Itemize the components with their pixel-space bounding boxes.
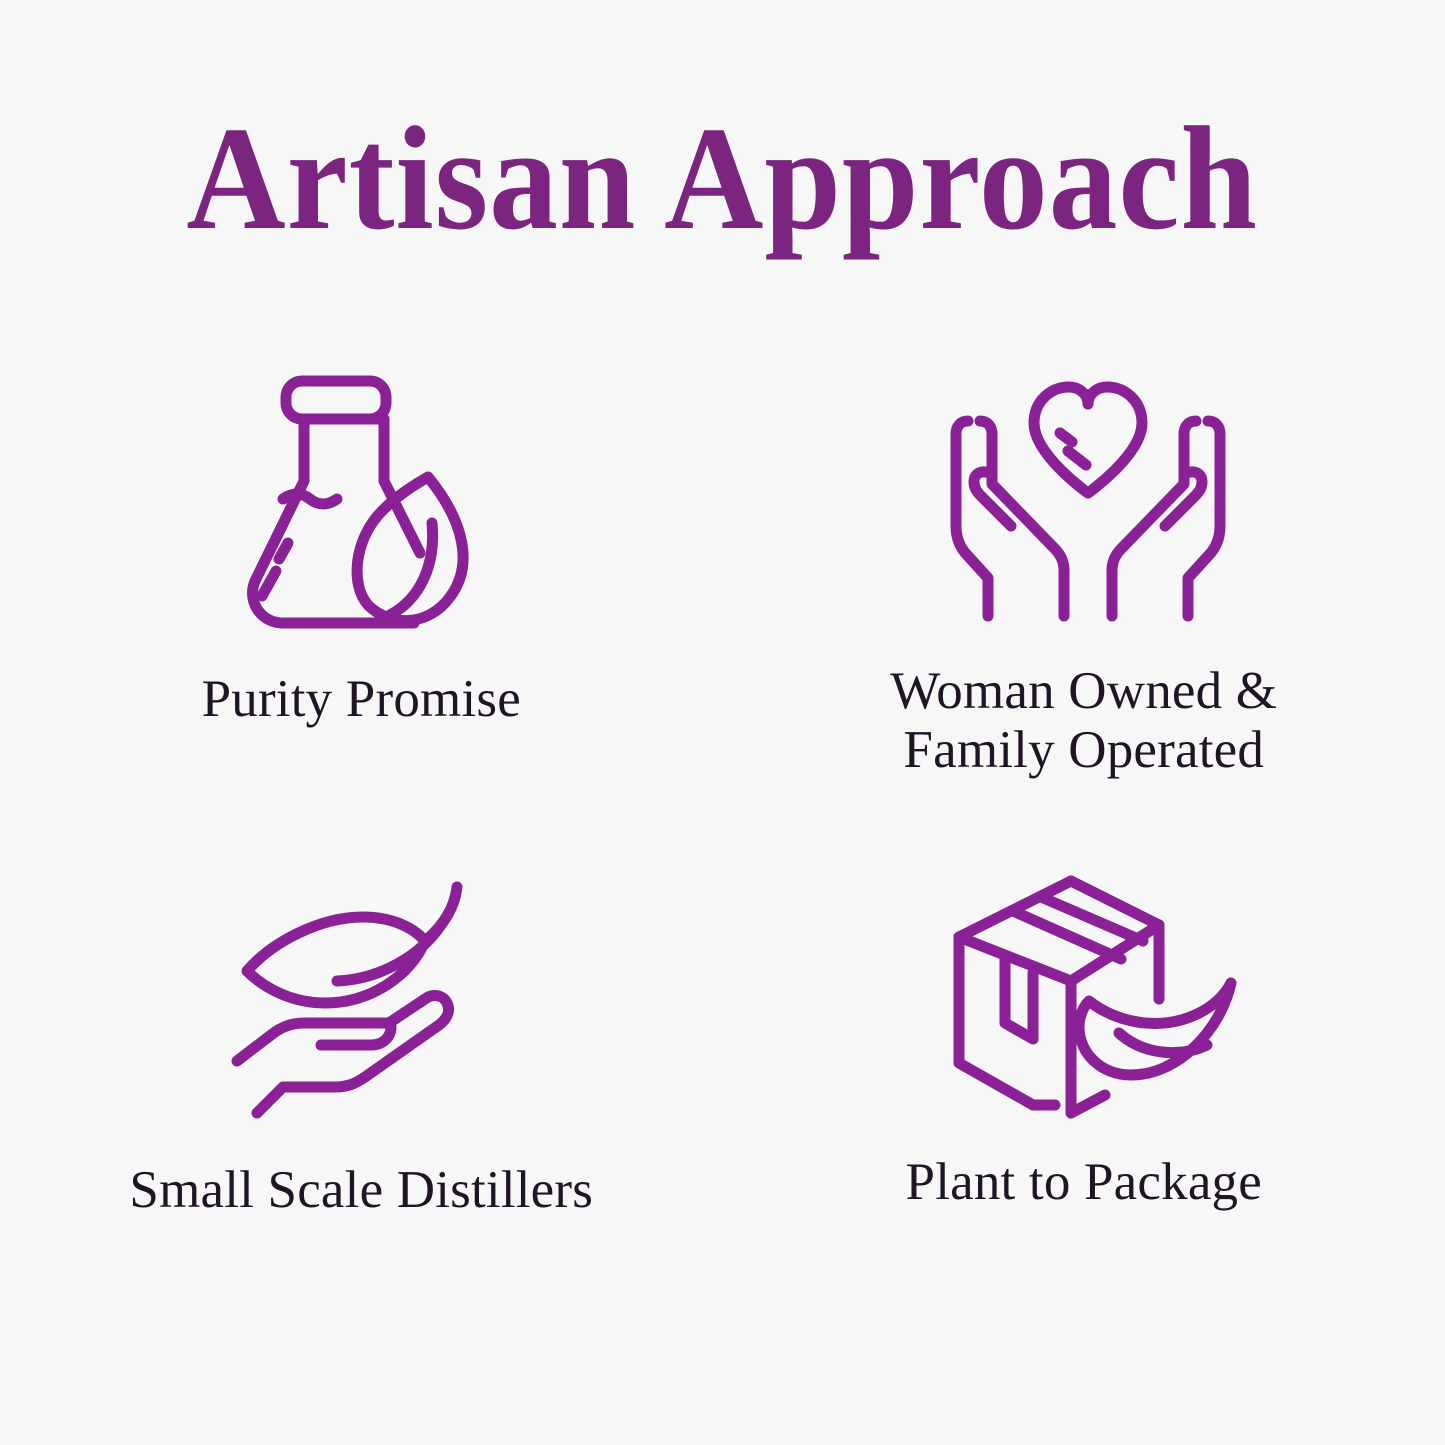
artisan-approach-infographic: Artisan Approach <box>0 0 1445 1445</box>
feature-label-woman-owned: Woman Owned & Family Operated <box>890 662 1277 781</box>
page-title: Artisan Approach <box>187 104 1259 255</box>
feature-card-purity-promise: Purity Promise <box>0 330 723 835</box>
feature-label-purity-promise: Purity Promise <box>202 670 521 729</box>
feature-card-small-scale-distillers: Small Scale Distillers <box>0 835 723 1340</box>
feature-card-woman-owned: Woman Owned & Family Operated <box>723 330 1445 835</box>
hands-holding-heart-icon <box>938 352 1238 652</box>
feature-label-small-scale-distillers: Small Scale Distillers <box>129 1161 593 1220</box>
flask-leaf-icon <box>207 352 507 652</box>
box-leaf-icon <box>943 865 1243 1135</box>
feature-label-plant-to-package: Plant to Package <box>906 1153 1262 1212</box>
feature-grid: Purity Promise <box>0 330 1445 1340</box>
page-title-container: Artisan Approach <box>0 104 1445 255</box>
feature-card-plant-to-package: Plant to Package <box>723 835 1445 1340</box>
hand-holding-leaf-icon <box>205 865 505 1135</box>
